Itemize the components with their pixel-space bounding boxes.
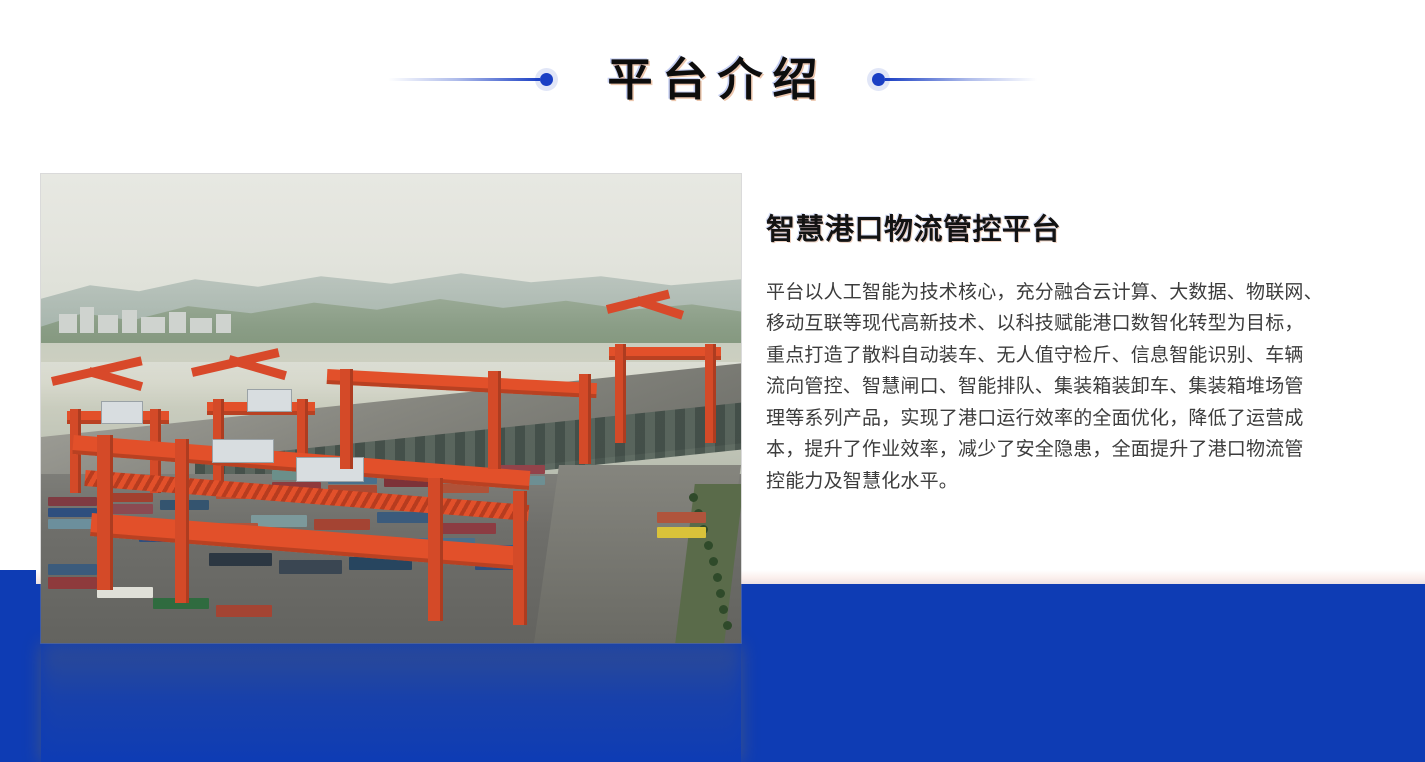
page-title: 平台介绍 [597,57,827,102]
paragraph-line: 流向管控、智慧闸口、智能排队、集装箱装卸车、集装箱堆场管 [766,371,1378,403]
paragraph-line: 理等系列产品，实现了港口运行效率的全面优化，降低了运营成 [766,403,1378,435]
photo-hillside-buildings [55,301,251,334]
platform-photo [41,174,741,643]
title-decoration-dot-left-icon [540,73,553,86]
title-decoration-line-left [388,78,540,81]
paragraph-line: 平台以人工智能为技术核心，充分融合云计算、大数据、物联网、 [766,277,1378,309]
paragraph-line: 本，提升了作业效率，减少了安全隐患，全面提升了港口物流管 [766,434,1378,466]
section-title-block: 平台介绍 [0,44,1425,114]
content-heading: 智慧港口物流管控平台 [766,212,1378,247]
slide-page: 平台介绍 [0,0,1425,762]
reflection-tint-mask [41,644,741,762]
content-paragraph: 平台以人工智能为技术核心，充分融合云计算、大数据、物联网、 移动互联等现代高新技… [766,277,1378,498]
paragraph-line: 重点打造了散料自动装车、无人值守检斤、信息智能识别、车辆 [766,340,1378,372]
content-column: 智慧港口物流管控平台 平台以人工智能为技术核心，充分融合云计算、大数据、物联网、… [766,212,1378,497]
paragraph-line: 控能力及智慧化水平。 [766,466,1378,498]
title-decoration-line-right [885,78,1037,81]
band-left-step [0,570,36,584]
title-decoration-dot-right-icon [872,73,885,86]
photo-gantry-crane-upper [321,362,643,484]
paragraph-line: 移动互联等现代高新技术、以科技赋能港口数智化转型为目标， [766,308,1378,340]
